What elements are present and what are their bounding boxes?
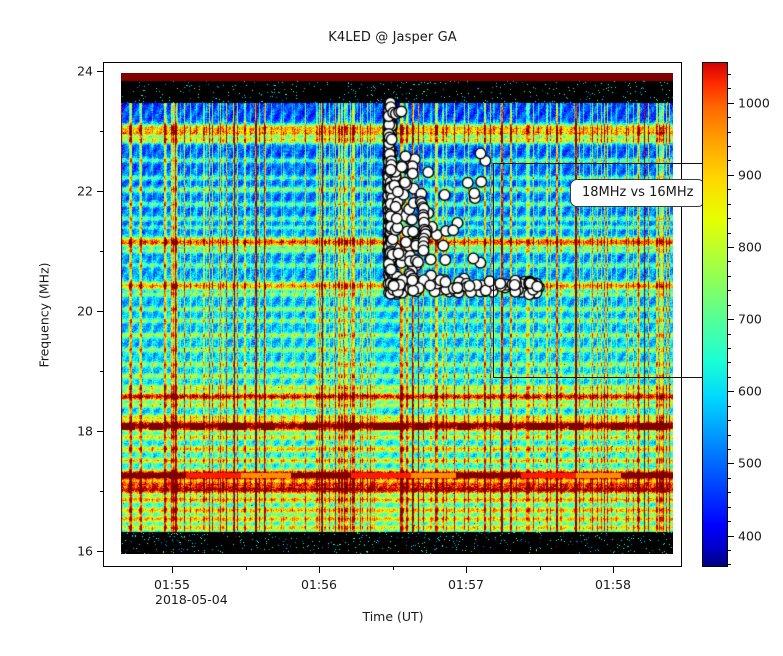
y-minor-tick-19 [100, 371, 104, 372]
colorbar-minor-tick [727, 435, 731, 436]
x-tick-label-0157: 01:57 [448, 577, 484, 592]
spectrogram-raster [121, 73, 673, 554]
y-tick-label-24: 24 [77, 64, 93, 79]
colorbar-minor-tick [727, 261, 731, 262]
y-tick-label-18: 18 [77, 424, 93, 439]
colorbar-tick-label-400: 400 [738, 528, 762, 543]
colorbar-minor-tick [727, 449, 731, 450]
colorbar-tick-800 [727, 247, 734, 248]
spectrogram-image [121, 73, 673, 554]
colorbar-minor-tick [727, 189, 731, 190]
colorbar-minor-tick [727, 362, 731, 363]
colorbar-tick-label-800: 800 [738, 239, 762, 254]
x-minor-tick [246, 566, 247, 570]
colorbar-minor-tick [727, 74, 731, 75]
colorbar-minor-tick [727, 406, 731, 407]
y-tick-label-22: 22 [77, 184, 93, 199]
colorbar-minor-tick [727, 521, 731, 522]
colorbar-minor-tick [727, 204, 731, 205]
x-tick-0158 [613, 566, 614, 573]
colorbar-minor-tick [727, 146, 731, 147]
x-tick-0156 [319, 566, 320, 573]
x-tick-0157 [466, 566, 467, 573]
colorbar-tick-500 [727, 463, 734, 464]
colorbar-tick-label-500: 500 [738, 456, 762, 471]
colorbar-minor-tick [727, 160, 731, 161]
y-tick-18 [97, 431, 104, 432]
spectrogram-axes: 18MHz vs 16MHz 2422201816 01:5501:5601:5… [103, 62, 682, 567]
colorbar-minor-tick [727, 117, 731, 118]
colorbar-minor-tick [727, 218, 731, 219]
colorbar-minor-tick [727, 334, 731, 335]
x-tick-label-0155: 01:55 [154, 577, 190, 592]
y-tick-20 [97, 311, 104, 312]
colorbar-tick-600 [727, 391, 734, 392]
colorbar-minor-tick [727, 420, 731, 421]
colorbar-minor-tick [727, 233, 731, 234]
colorbar-minor-tick [727, 348, 731, 349]
colorbar-minor-tick [727, 276, 731, 277]
colorbar-minor-tick [727, 550, 731, 551]
colorbar-minor-tick [727, 492, 731, 493]
colorbar-minor-tick [727, 132, 731, 133]
x-tick-label-0158: 01:58 [595, 577, 631, 592]
y-tick-24 [97, 71, 104, 72]
colorbar-tick-400 [727, 536, 734, 537]
chart-title: K4LED @ Jasper GA [103, 30, 682, 45]
y-minor-tick-21 [100, 251, 104, 252]
colorbar-tick-label-700: 700 [738, 312, 762, 327]
colorbar-minor-tick [727, 564, 731, 565]
colorbar-tick-1000 [727, 103, 734, 104]
y-tick-16 [97, 551, 104, 552]
colorbar-minor-tick [727, 290, 731, 291]
colorbar-minor-tick [727, 88, 731, 89]
colorbar: 1000900800700600500400 [702, 62, 728, 567]
y-minor-tick-17 [100, 491, 104, 492]
colorbar-tick-700 [727, 319, 734, 320]
x-tick-label-0156: 01:56 [301, 577, 337, 592]
x-minor-tick [393, 566, 394, 570]
colorbar-minor-tick [727, 478, 731, 479]
figure-canvas: K4LED @ Jasper GA Frequency (MHz) Time (… [0, 0, 783, 656]
colorbar-minor-tick [727, 377, 731, 378]
y-tick-label-16: 16 [77, 544, 93, 559]
colorbar-tick-label-900: 900 [738, 167, 762, 182]
y-axis-title: Frequency (MHz) [37, 262, 52, 367]
colorbar-minor-tick [727, 305, 731, 306]
colorbar-tick-label-1000: 1000 [738, 95, 770, 110]
date-label: 2018-05-04 [155, 592, 228, 607]
colorbar-tick-label-600: 600 [738, 384, 762, 399]
x-axis-title: Time (UT) [362, 609, 423, 624]
colorbar-tick-900 [727, 175, 734, 176]
y-tick-22 [97, 191, 104, 192]
y-tick-label-20: 20 [77, 304, 93, 319]
y-minor-tick-23 [100, 131, 104, 132]
annotation-label: 18MHz vs 16MHz [570, 179, 705, 207]
x-minor-tick [540, 566, 541, 570]
x-tick-0155 [172, 566, 173, 573]
colorbar-minor-tick [727, 507, 731, 508]
